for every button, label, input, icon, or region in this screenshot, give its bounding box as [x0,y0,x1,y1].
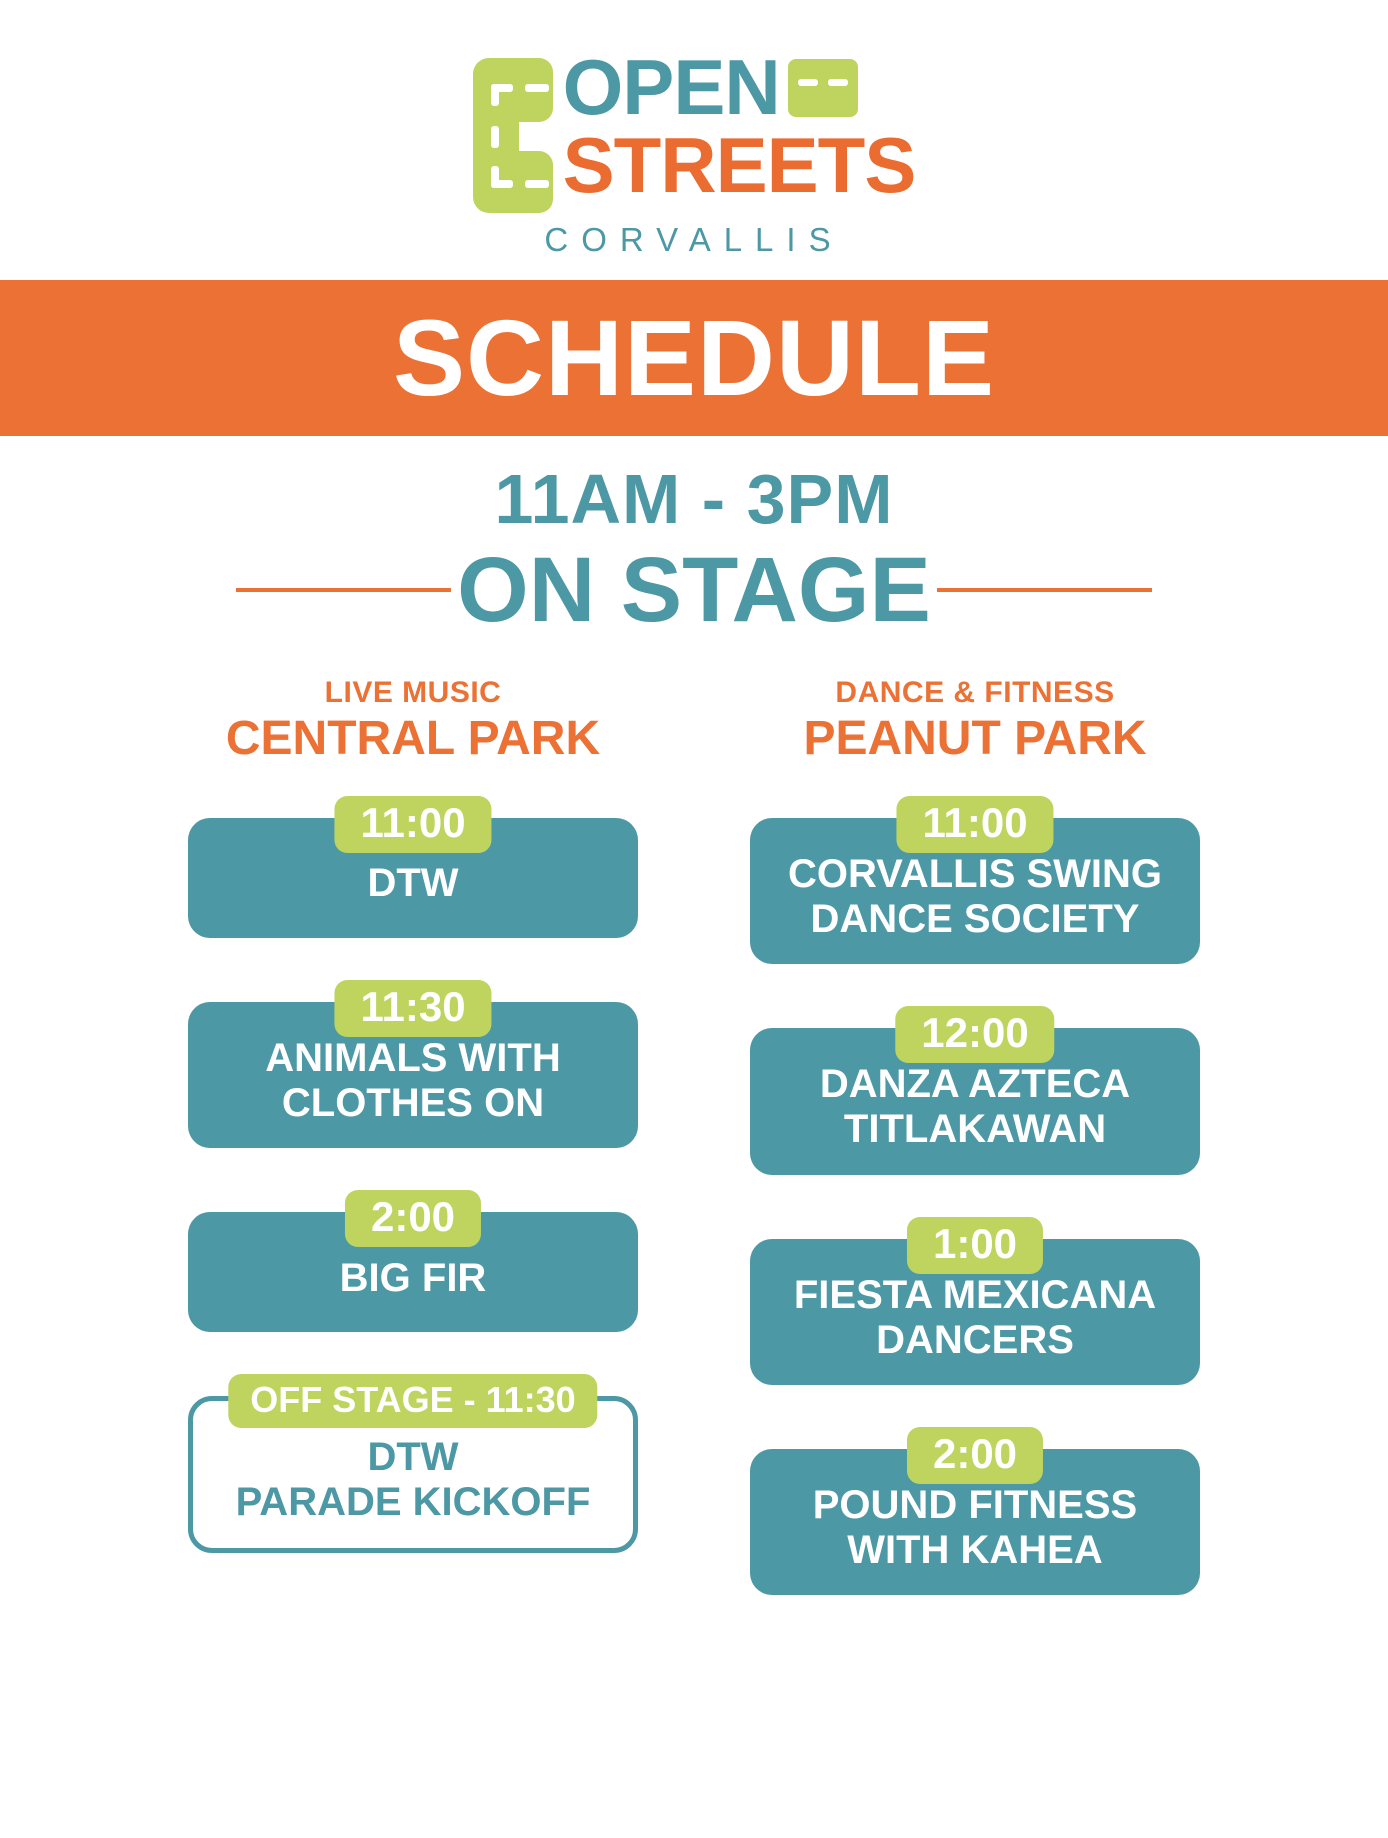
card-time-badge: 1:00 [907,1217,1043,1274]
open-streets-logo: OPEN STREETS CORVALLIS [473,52,916,259]
schedule-card[interactable]: 11:30 ANIMALS WITH CLOTHES ON [188,980,638,1148]
rule-left [236,588,451,592]
schedule-banner: SCHEDULE [0,280,1388,436]
card-time-badge: OFF STAGE - 11:30 [228,1374,597,1428]
card-time-badge: 2:00 [345,1190,481,1247]
event-time-range: 11AM - 3PM [0,464,1388,534]
column-title-peanut-park: PEANUT PARK [750,713,1200,766]
schedule-card[interactable]: 11:00 DTW [188,796,638,938]
logo-wordmark: OPEN STREETS [563,52,916,204]
card-performer-name: CORVALLIS SWING DANCE SOCIETY [788,852,1162,942]
card-time-badge: 2:00 [907,1427,1043,1484]
card-performer-name: ANIMALS WITH CLOTHES ON [265,1036,561,1126]
logo-word-open: OPEN [563,52,780,124]
schedule-card[interactable]: 12:00 DANZA AZTECA TITLAKAWAN [750,1006,1200,1174]
card-performer-name: DANZA AZTECA TITLAKAWAN [820,1062,1130,1152]
on-stage-heading-row: ON STAGE [0,544,1388,636]
rule-right [937,588,1152,592]
logo-green-dash-block-icon [788,59,858,117]
page-title: SCHEDULE [393,304,995,412]
card-list-peanut-park: 11:00 CORVALLIS SWING DANCE SOCIETY 12:0… [750,796,1200,1596]
card-performer-name: DTW [367,861,458,906]
column-kicker-live-music: LIVE MUSIC [188,678,638,708]
column-central-park: LIVE MUSIC CENTRAL PARK 11:00 DTW 11:30 … [188,678,638,1637]
schedule-card-off-stage[interactable]: OFF STAGE - 11:30 DTW PARADE KICKOFF [188,1374,638,1552]
logo-top-row: OPEN STREETS [473,52,916,213]
open-streets-map-glyph-icon [473,58,553,213]
card-time-badge: 11:00 [896,796,1053,853]
card-performer-name: POUND FITNESS WITH KAHEA [813,1483,1137,1573]
section-title: ON STAGE [451,544,937,636]
card-time-badge: 11:30 [334,980,491,1037]
schedule-card[interactable]: 2:00 BIG FIR [188,1190,638,1332]
column-kicker-dance-fitness: DANCE & FITNESS [750,678,1200,708]
logo-open-row: OPEN [563,52,916,124]
card-performer-name: FIESTA MEXICANA DANCERS [794,1273,1156,1363]
column-peanut-park: DANCE & FITNESS PEANUT PARK 11:00 CORVAL… [750,678,1200,1637]
card-performer-name: DTW PARADE KICKOFF [236,1435,591,1525]
schedule-columns: LIVE MUSIC CENTRAL PARK 11:00 DTW 11:30 … [0,678,1388,1637]
logo-word-streets: STREETS [563,126,916,204]
column-title-central-park: CENTRAL PARK [188,713,638,766]
schedule-card[interactable]: 2:00 POUND FITNESS WITH KAHEA [750,1427,1200,1595]
card-time-badge: 12:00 [895,1006,1054,1063]
logo-header: OPEN STREETS CORVALLIS [0,0,1388,280]
logo-word-corvallis: CORVALLIS [544,221,843,259]
schedule-card[interactable]: 1:00 FIESTA MEXICANA DANCERS [750,1217,1200,1385]
card-time-badge: 11:00 [334,796,491,853]
card-performer-name: BIG FIR [340,1256,487,1301]
schedule-card[interactable]: 11:00 CORVALLIS SWING DANCE SOCIETY [750,796,1200,964]
card-list-central-park: 11:00 DTW 11:30 ANIMALS WITH CLOTHES ON … [188,796,638,1553]
